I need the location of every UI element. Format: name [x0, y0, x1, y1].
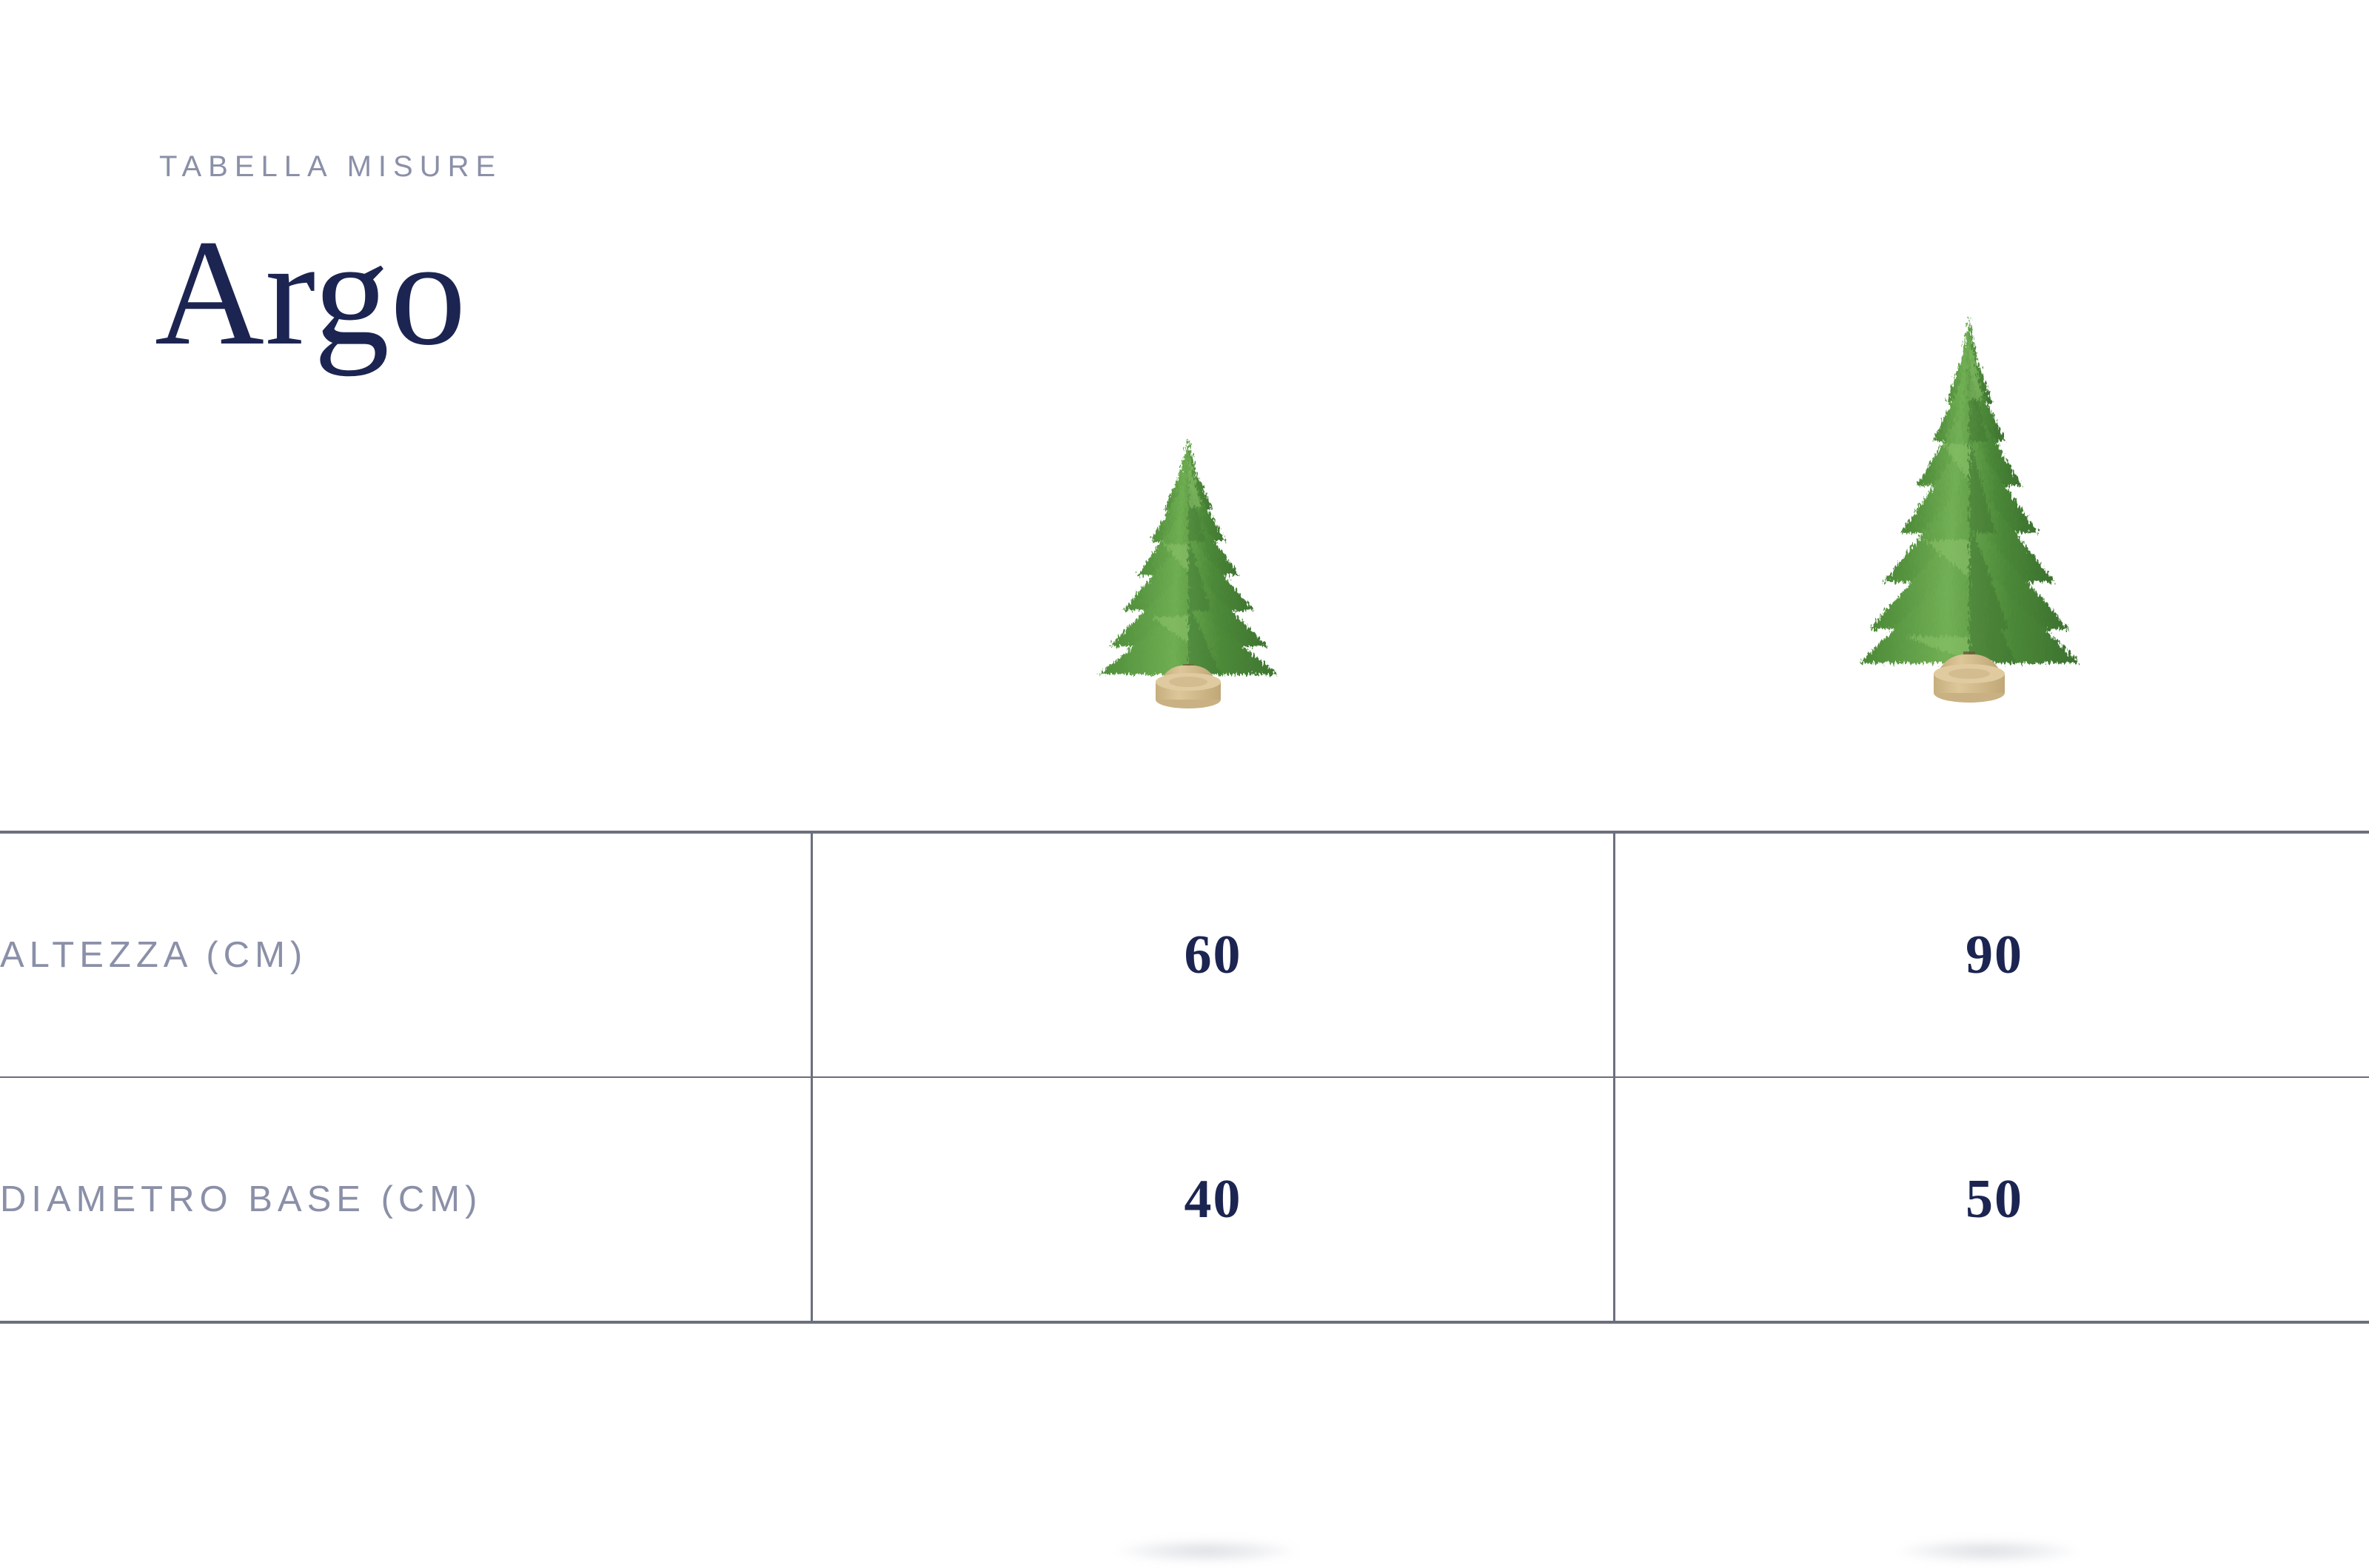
christmas-tree-icon	[1847, 311, 2091, 726]
table-row: Altezza (cm) 60 90	[0, 832, 2369, 1077]
eyebrow-label: Tabella Misure	[159, 152, 502, 181]
tree-shadow	[1114, 1538, 1299, 1564]
cell-diametro-tree-large: 50	[1615, 1077, 2369, 1322]
table-row: Diametro base (cm) 40 50	[0, 1077, 2369, 1322]
page-header: Tabella Misure Argo	[159, 152, 502, 369]
page-title: Argo	[155, 217, 502, 369]
cell-altezza-tree-small: 60	[812, 832, 1615, 1077]
cell-diametro-tree-small: 40	[812, 1077, 1615, 1322]
size-table: Altezza (cm) 60 90 Diametro base (cm) 40…	[0, 831, 2369, 1324]
row-label-diametro-base: Diametro base (cm)	[0, 1077, 812, 1322]
tree-shadow	[1895, 1538, 2080, 1564]
size-chart-page: Tabella Misure Argo	[0, 0, 2369, 1568]
row-label-altezza: Altezza (cm)	[0, 832, 812, 1077]
cell-altezza-tree-large: 90	[1615, 832, 2369, 1077]
christmas-tree-icon	[1081, 433, 1296, 722]
